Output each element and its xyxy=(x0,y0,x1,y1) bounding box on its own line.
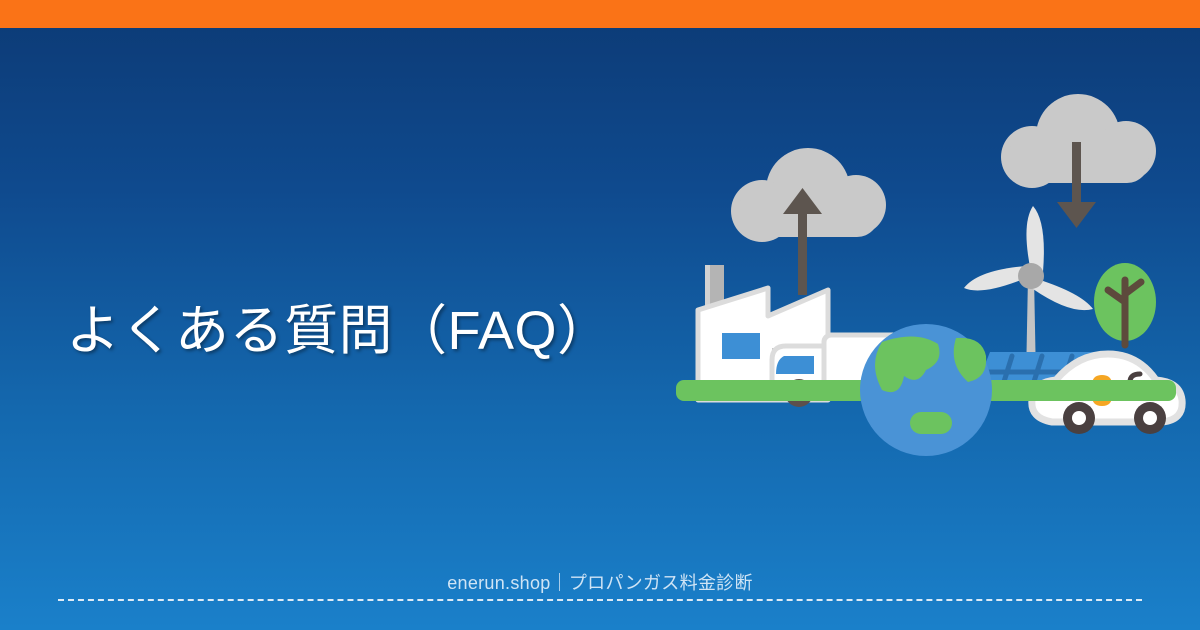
tree-icon xyxy=(1094,263,1156,345)
cloud-up-arrow-icon xyxy=(731,148,886,295)
footer-divider xyxy=(58,599,1142,601)
illustration-eco-energy-scene xyxy=(660,80,1200,550)
page-title: よくある質問（FAQ） xyxy=(66,298,666,366)
earth-globe-icon xyxy=(860,324,992,456)
cloud-down-arrow-icon xyxy=(1001,94,1156,228)
footer-text: enerun.shop｜プロパンガス料金診断 xyxy=(0,570,1200,596)
factory-window xyxy=(722,333,760,359)
truck-window xyxy=(776,356,814,374)
turbine-hub xyxy=(1018,263,1044,289)
slide-canvas: よくある質問（FAQ） xyxy=(0,0,1200,630)
footer: enerun.shop｜プロパンガス料金診断 xyxy=(0,570,1200,630)
top-accent-bar xyxy=(0,0,1200,28)
